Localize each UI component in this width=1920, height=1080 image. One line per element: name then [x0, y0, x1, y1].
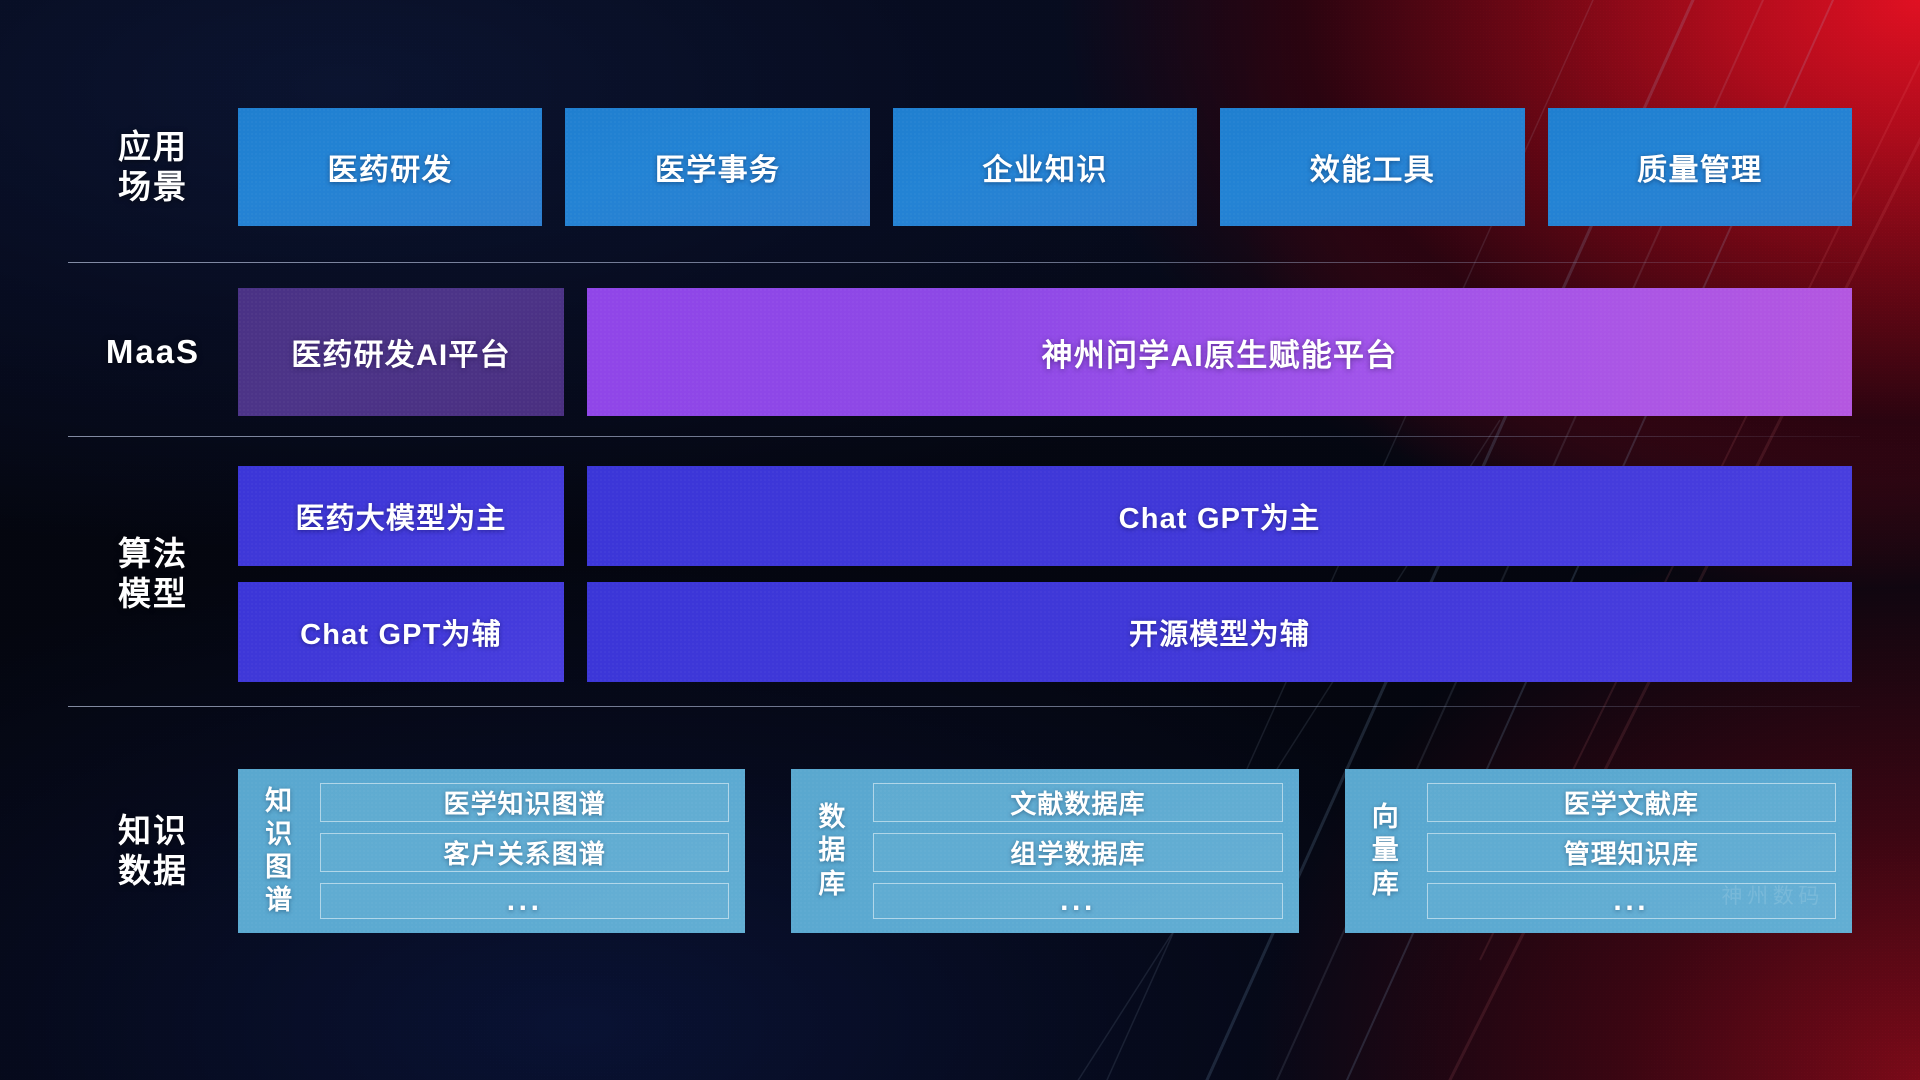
knowledge-item-1-1[interactable]: 组学数据库	[873, 833, 1282, 872]
row-label-maas: MaaS	[68, 332, 238, 372]
row-label-knowledge-line1: 知识	[68, 811, 238, 851]
algorithm-card-secondary-left[interactable]: Chat GPT为辅	[238, 582, 564, 682]
knowledge-group-1-items: 文献数据库 组学数据库 ...	[873, 783, 1282, 919]
row-label-applications-line2: 场景	[68, 167, 238, 207]
knowledge-group-vector-store[interactable]: 向 量 库 医学文献库 管理知识库 ...	[1345, 769, 1852, 933]
divider-maas-algorithm	[68, 436, 1860, 437]
architecture-diagram: 应用 场景 医药研发 医学事务 企业知识 效能工具 质量管理 MaaS 医药研发…	[0, 0, 1920, 1080]
algorithm-card-primary-right[interactable]: Chat GPT为主	[587, 466, 1852, 566]
knowledge-group-0-side-char-0: 知	[265, 785, 293, 818]
knowledge-group-2-side-char-0: 向	[1372, 801, 1400, 834]
knowledge-item-0-1[interactable]: 客户关系图谱	[320, 833, 729, 872]
row-applications: 应用 场景 医药研发 医学事务 企业知识 效能工具 质量管理	[68, 108, 1852, 226]
knowledge-group-2-side-label: 向 量 库	[1357, 783, 1415, 919]
knowledge-group-list: 知 识 图 谱 医学知识图谱 客户关系图谱 ... 数 据 库	[238, 769, 1852, 933]
knowledge-item-2-0[interactable]: 医学文献库	[1427, 783, 1836, 822]
maas-card-list: 医药研发AI平台 神州问学AI原生赋能平台	[238, 288, 1852, 416]
row-label-knowledge-line2: 数据	[68, 851, 238, 891]
row-algorithm-secondary: Chat GPT为辅 开源模型为辅	[68, 582, 1852, 682]
application-card-2[interactable]: 企业知识	[893, 108, 1197, 226]
knowledge-group-1-side-char-2: 库	[818, 868, 846, 901]
knowledge-group-0-side-char-2: 图	[265, 851, 293, 884]
applications-card-list: 医药研发 医学事务 企业知识 效能工具 质量管理	[238, 108, 1852, 226]
maas-card-shenzhou-wenxue-platform[interactable]: 神州问学AI原生赋能平台	[587, 288, 1852, 416]
knowledge-item-0-0[interactable]: 医学知识图谱	[320, 783, 729, 822]
application-card-1[interactable]: 医学事务	[565, 108, 869, 226]
divider-algorithm-knowledge	[68, 706, 1860, 707]
knowledge-group-database[interactable]: 数 据 库 文献数据库 组学数据库 ...	[791, 769, 1298, 933]
row-label-applications: 应用 场景	[68, 127, 238, 208]
knowledge-group-2-side-char-2: 库	[1372, 868, 1400, 901]
knowledge-item-2-2[interactable]: ...	[1427, 883, 1836, 919]
knowledge-item-1-2[interactable]: ...	[873, 883, 1282, 919]
divider-applications-maas	[68, 262, 1860, 263]
row-label-knowledge: 知识 数据	[68, 811, 238, 892]
algorithm-card-secondary-right[interactable]: 开源模型为辅	[587, 582, 1852, 682]
knowledge-group-0-items: 医学知识图谱 客户关系图谱 ...	[320, 783, 729, 919]
row-maas: MaaS 医药研发AI平台 神州问学AI原生赋能平台	[68, 288, 1852, 416]
algorithm-secondary-list: Chat GPT为辅 开源模型为辅	[238, 582, 1852, 682]
application-card-0[interactable]: 医药研发	[238, 108, 542, 226]
knowledge-item-0-2[interactable]: ...	[320, 883, 729, 919]
knowledge-group-2-side-char-1: 量	[1372, 834, 1400, 867]
knowledge-group-0-side-label: 知 识 图 谱	[250, 783, 308, 919]
knowledge-item-1-0[interactable]: 文献数据库	[873, 783, 1282, 822]
knowledge-group-0-side-char-3: 谱	[265, 884, 293, 917]
algorithm-primary-list: 医药大模型为主 Chat GPT为主	[238, 466, 1852, 566]
application-card-3[interactable]: 效能工具	[1220, 108, 1524, 226]
algorithm-card-primary-left[interactable]: 医药大模型为主	[238, 466, 564, 566]
knowledge-group-1-side-char-0: 数	[818, 801, 846, 834]
knowledge-group-2-items: 医学文献库 管理知识库 ...	[1427, 783, 1836, 919]
row-label-applications-line1: 应用	[68, 127, 238, 167]
application-card-4[interactable]: 质量管理	[1548, 108, 1852, 226]
knowledge-group-knowledge-graph[interactable]: 知 识 图 谱 医学知识图谱 客户关系图谱 ...	[238, 769, 745, 933]
maas-card-pharma-ai-platform[interactable]: 医药研发AI平台	[238, 288, 564, 416]
row-knowledge-data: 知识 数据 知 识 图 谱 医学知识图谱 客户关系图谱 ...	[68, 730, 1852, 972]
row-algorithm-primary: 医药大模型为主 Chat GPT为主	[68, 466, 1852, 566]
knowledge-group-1-side-char-1: 据	[818, 834, 846, 867]
knowledge-group-0-side-char-1: 识	[265, 818, 293, 851]
knowledge-item-2-1[interactable]: 管理知识库	[1427, 833, 1836, 872]
knowledge-group-1-side-label: 数 据 库	[803, 783, 861, 919]
